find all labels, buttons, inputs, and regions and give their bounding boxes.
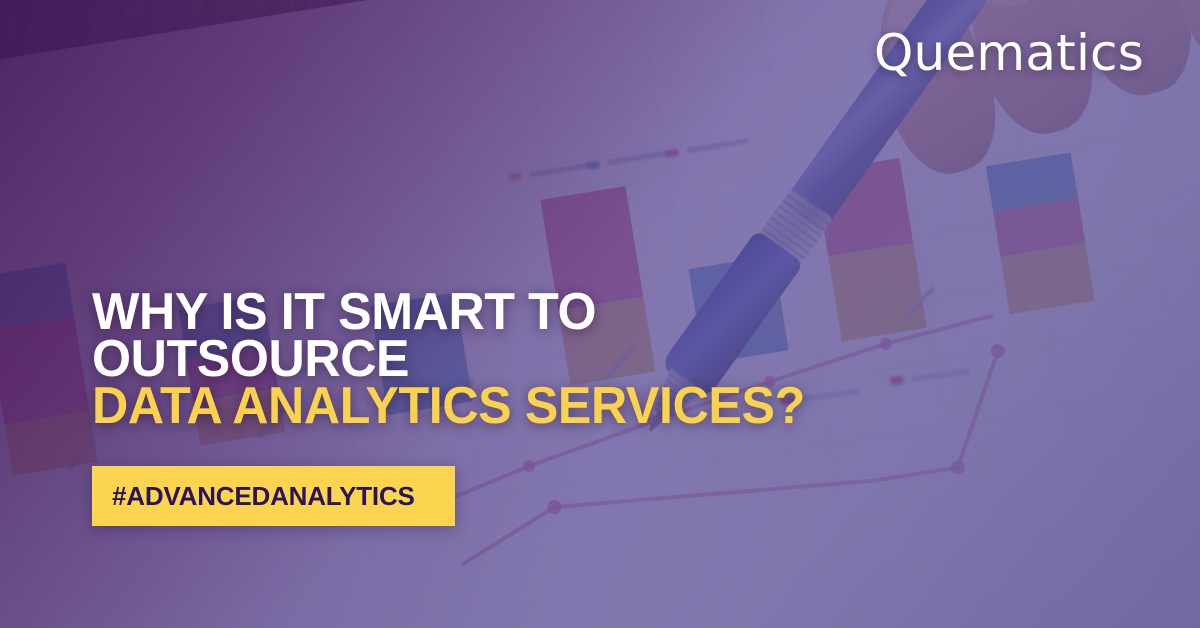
social-banner: Quematics WHY IS IT SMART TO OUTSOURCE D…: [0, 0, 1200, 628]
hashtag-badge-label: #ADVANCEDANALYTICS: [112, 481, 415, 512]
headline-line-3: DATA ANALYTICS SERVICES?: [92, 383, 825, 430]
headline-block: WHY IS IT SMART TO OUTSOURCE DATA ANALYT…: [92, 289, 852, 430]
banner-content: Quematics WHY IS IT SMART TO OUTSOURCE D…: [0, 0, 1200, 628]
hashtag-badge[interactable]: #ADVANCEDANALYTICS: [92, 466, 455, 526]
brand-logo[interactable]: Quematics: [874, 24, 1144, 82]
headline-line-1: WHY IS IT SMART TO: [92, 289, 825, 336]
headline-line-2: OUTSOURCE: [92, 336, 825, 383]
